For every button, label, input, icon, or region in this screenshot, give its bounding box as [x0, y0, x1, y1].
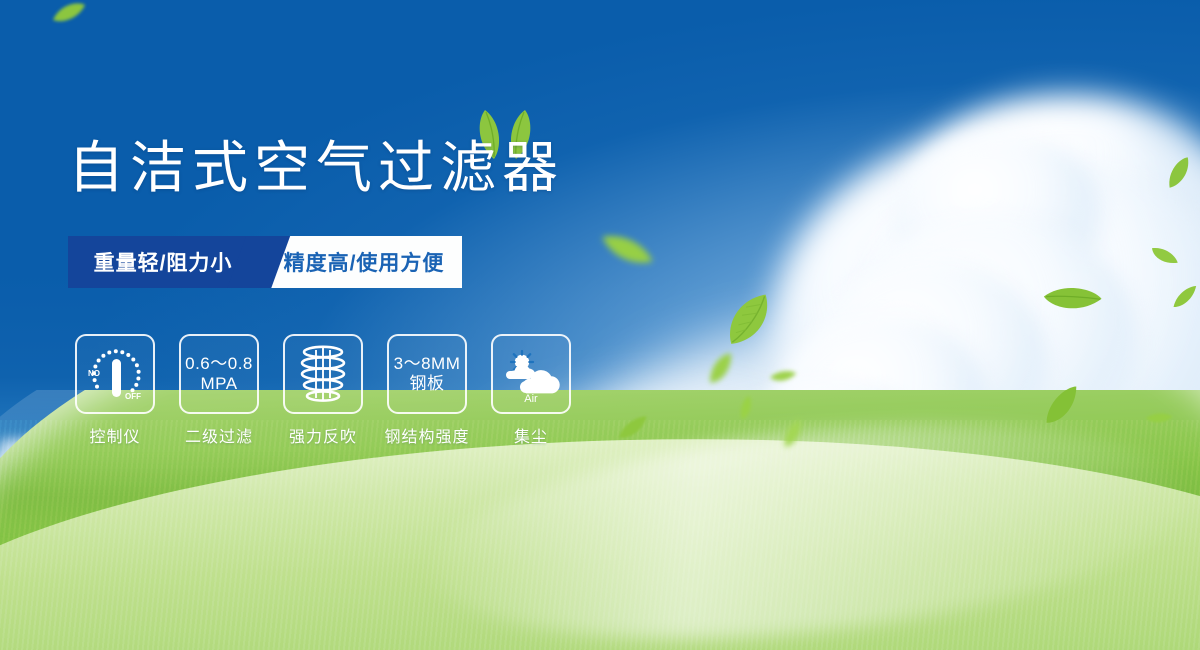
feature-item-steel[interactable]: 3～8MM 钢板 钢结构强度	[380, 334, 474, 447]
feature-icon-box: 0.6～0.8 MPA	[179, 334, 259, 414]
feature-label: 集尘	[484, 423, 578, 447]
hero-banner: 自洁式空气过滤器 重量轻/阻力小 精度高/使用方便	[0, 0, 1200, 650]
feature-label: 钢结构强度	[380, 423, 474, 447]
air-label: Air	[524, 393, 538, 405]
air-cloud-icon: Air	[500, 345, 562, 403]
subtitle-right: 精度高/使用方便	[258, 236, 462, 288]
feature-icon-box: Air	[491, 334, 571, 414]
gauge-dial-icon: NO OFF	[83, 343, 147, 405]
pressure-value-icon: 0.6～0.8 MPA	[185, 354, 253, 393]
feature-item-control[interactable]: NO OFF 控制仪	[68, 334, 162, 447]
dial-off-label: OFF	[125, 392, 141, 401]
grass-texture	[0, 420, 1200, 650]
steel-thickness: 3～8MM	[394, 354, 461, 374]
feature-list: NO OFF 控制仪 0.6～0.8 MPA 二级过滤	[68, 334, 578, 447]
pressure-unit: MPA	[185, 374, 253, 394]
feature-item-filter[interactable]: 0.6～0.8 MPA 二级过滤	[172, 334, 266, 447]
feature-label: 强力反吹	[276, 423, 370, 447]
dial-no-label: NO	[88, 369, 100, 378]
steel-plate-icon: 3～8MM 钢板	[394, 354, 461, 393]
pressure-range: 0.6～0.8	[185, 354, 253, 374]
page-title: 自洁式空气过滤器	[68, 140, 564, 196]
feature-icon-box: 3～8MM 钢板	[387, 334, 467, 414]
blowback-coil-icon	[294, 344, 352, 404]
steel-material: 钢板	[394, 374, 461, 394]
feature-icon-box: NO OFF	[75, 334, 155, 414]
feature-icon-box	[283, 334, 363, 414]
feature-item-blowback[interactable]: 强力反吹	[276, 334, 370, 447]
feature-label: 控制仪	[68, 423, 162, 447]
feature-item-dust[interactable]: Air 集尘	[484, 334, 578, 447]
feature-label: 二级过滤	[172, 423, 266, 447]
subtitle-bar: 重量轻/阻力小 精度高/使用方便	[68, 236, 462, 288]
